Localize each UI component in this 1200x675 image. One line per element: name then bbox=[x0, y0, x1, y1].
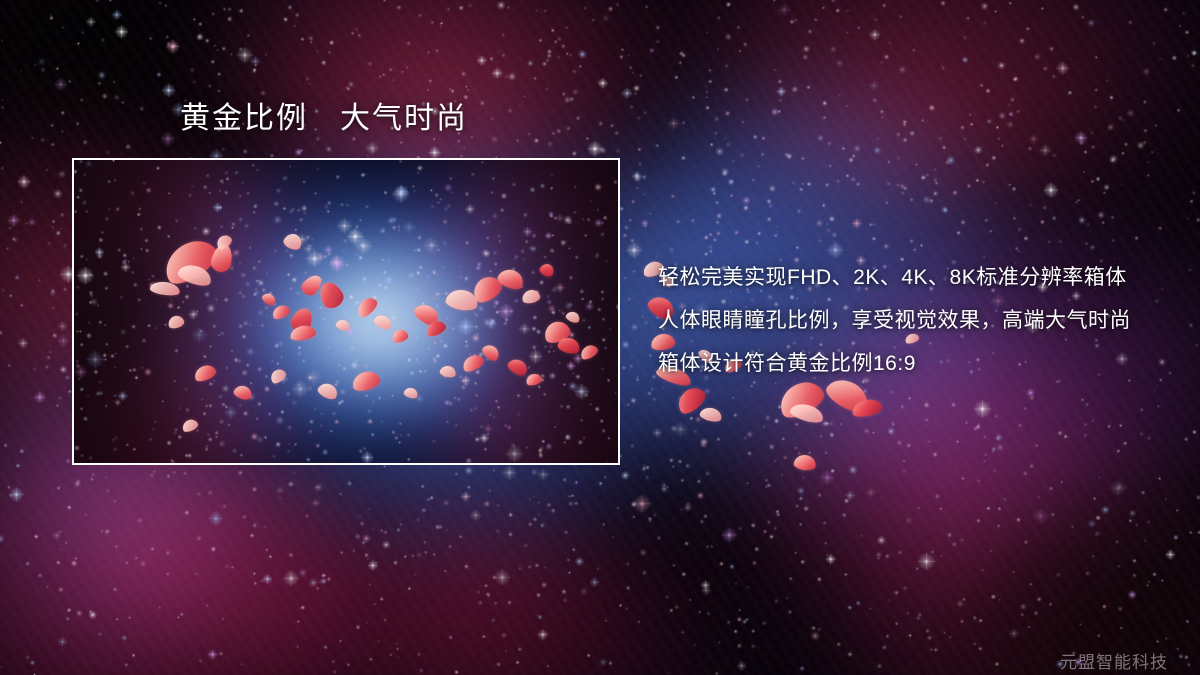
body-line-3: 箱体设计符合黄金比例16:9 bbox=[658, 342, 1178, 385]
body-line-1: 轻松完美实现FHD、2K、4K、8K标准分辨率箱体 bbox=[658, 256, 1178, 299]
photo-petal bbox=[372, 312, 394, 331]
page-title: 黄金比例 大气时尚 bbox=[180, 100, 468, 138]
background-petal bbox=[699, 406, 723, 424]
petals-photo-layer bbox=[74, 160, 618, 463]
photo-petal bbox=[232, 383, 253, 401]
photo-petal bbox=[403, 386, 419, 400]
photo-petal bbox=[268, 366, 288, 385]
photo-petal bbox=[192, 362, 218, 383]
photo-petal bbox=[525, 372, 543, 387]
galaxy-petals-photo-frame bbox=[72, 158, 620, 465]
photo-petal bbox=[260, 291, 277, 307]
photo-petal bbox=[565, 310, 582, 325]
photo-petal bbox=[578, 342, 600, 361]
photo-petal bbox=[391, 328, 410, 344]
photo-inner bbox=[74, 160, 618, 463]
photo-petal bbox=[439, 364, 457, 378]
photo-petal bbox=[538, 261, 556, 278]
photo-petal bbox=[167, 314, 186, 330]
photo-petal bbox=[460, 352, 486, 375]
photo-petal bbox=[335, 318, 351, 332]
photo-petal bbox=[350, 368, 382, 393]
body-copy: 轻松完美实现FHD、2K、4K、8K标准分辨率箱体 人体眼睛瞳孔比例，享受视觉效… bbox=[658, 256, 1178, 385]
photo-petal bbox=[506, 356, 530, 378]
photo-petal bbox=[270, 303, 291, 321]
watermark-text: 元盟智能科技 bbox=[1060, 648, 1168, 673]
slide-canvas: 黄金比例 大气时尚 轻松完美实现FHD、2K、4K、8K标准分辨率箱体 人体眼睛… bbox=[0, 0, 1200, 675]
body-line-2: 人体眼睛瞳孔比例，享受视觉效果，高端大气时尚 bbox=[658, 299, 1178, 342]
background-petal bbox=[793, 454, 817, 472]
photo-petal bbox=[316, 380, 340, 401]
photo-petal bbox=[180, 417, 199, 434]
photo-petal bbox=[282, 231, 305, 252]
photo-petal bbox=[521, 288, 541, 304]
